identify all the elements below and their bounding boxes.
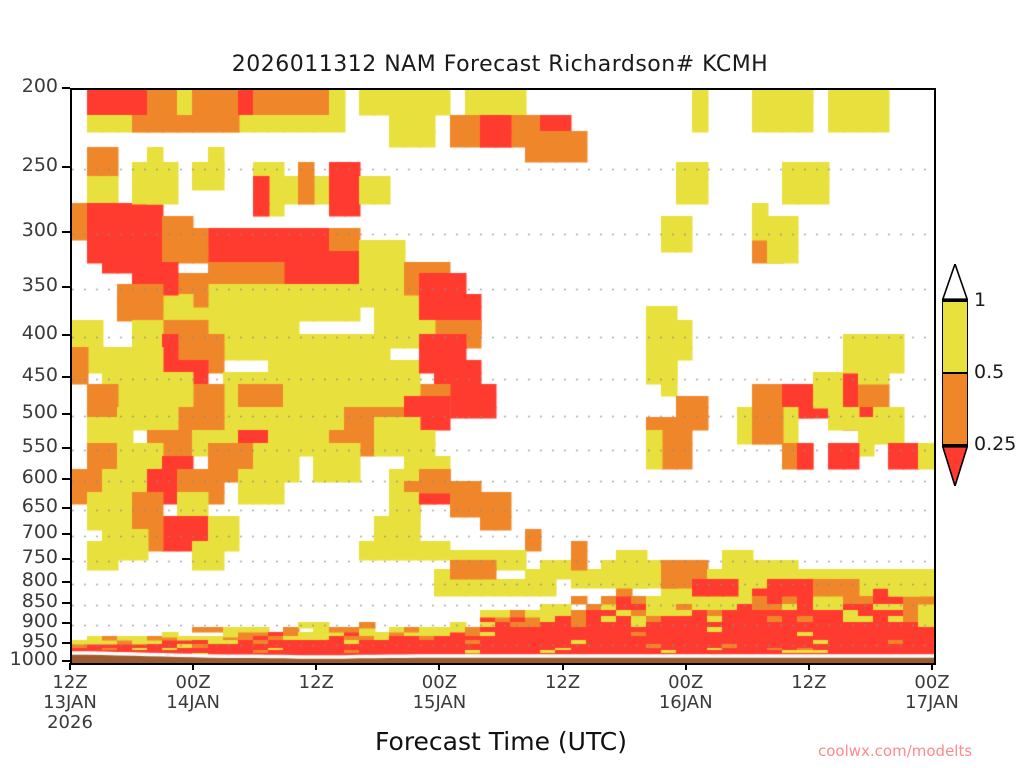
y-tick-label: 350 [22,274,58,296]
x-tick-line1: 12Z [545,672,580,693]
colorbar-label-1: 1 [974,289,986,311]
y-tick-mark [62,602,70,604]
y-tick-mark [62,622,70,624]
y-tick-mark [62,166,70,168]
y-tick-mark [62,558,70,560]
y-tick-mark [62,334,70,336]
y-tick-label: 400 [22,322,58,344]
y-tick-label: 200 [22,75,58,97]
colorbar-divider-bottom [942,444,968,446]
x-tick-mark [562,663,564,670]
x-tick-label: 12Z13JAN2026 [10,673,130,733]
colorbar-label-0.25: 0.25 [974,433,1016,455]
colorbar-arrow-up-outline-icon [942,264,968,300]
x-tick-line1: 12Z [52,672,87,693]
x-tick-mark [192,663,194,670]
y-tick-mark [62,231,70,233]
richardson-number-heatmap [72,90,934,663]
x-tick-line2: 13JAN [10,693,130,713]
y-tick-mark [62,533,70,535]
x-tick-line1: 12Z [791,672,826,693]
colorbar: 1 0.5 0.25 [942,300,968,446]
x-tick-mark [69,663,71,670]
y-tick-mark [62,642,70,644]
y-tick-label: 300 [22,219,58,241]
watermark-link[interactable]: coolwx.com/modelts [818,742,972,760]
colorbar-divider-top [942,300,968,302]
x-tick-mark [931,663,933,670]
x-tick-line2: 17JAN [872,693,992,713]
x-tick-label: 00Z14JAN [133,673,253,713]
x-tick-mark [808,663,810,670]
x-tick-mark [438,663,440,670]
y-tick-label: 600 [22,466,58,488]
y-tick-mark [62,581,70,583]
y-tick-mark [62,447,70,449]
x-tick-label: 00Z17JAN [872,673,992,713]
x-tick-line1: 00Z [668,672,703,693]
chart-figure: 2026011312 NAM Forecast Richardson# KCMH… [0,0,1024,768]
y-tick-label: 500 [22,401,58,423]
y-tick-label: 250 [22,154,58,176]
y-tick-mark [62,413,70,415]
colorbar-segment-orange [942,372,968,444]
y-tick-mark [62,660,70,662]
x-tick-line2: 14JAN [133,693,253,713]
x-tick-label: 00Z15JAN [379,673,499,713]
y-tick-label: 850 [22,590,58,612]
y-tick-mark [62,376,70,378]
plot-area [70,88,936,665]
y-tick-label: 550 [22,435,58,457]
y-tick-label: 700 [22,521,58,543]
colorbar-divider-mid [942,372,968,374]
colorbar-segment-yellow [942,300,968,372]
y-tick-label: 1000 [10,648,58,670]
x-tick-line1: 00Z [422,672,457,693]
x-tick-mark [315,663,317,670]
colorbar-arrow-down-outline-icon [942,446,968,486]
y-tick-label: 800 [22,569,58,591]
x-tick-label: 12Z [256,673,376,693]
colorbar-label-0.5: 0.5 [974,361,1004,383]
x-tick-line2: 15JAN [379,693,499,713]
y-tick-label: 450 [22,364,58,386]
x-tick-mark [685,663,687,670]
y-tick-label: 750 [22,546,58,568]
y-tick-mark [62,286,70,288]
x-tick-label: 12Z [749,673,869,693]
x-tick-line2: 16JAN [626,693,746,713]
x-axis-title: Forecast Time (UTC) [70,727,932,756]
x-tick-line1: 00Z [914,672,949,693]
x-tick-line1: 12Z [299,672,334,693]
x-tick-line1: 00Z [176,672,211,693]
y-tick-label: 650 [22,495,58,517]
y-tick-mark [62,478,70,480]
y-tick-mark [62,87,70,89]
x-tick-label: 00Z16JAN [626,673,746,713]
chart-title: 2026011312 NAM Forecast Richardson# KCMH [0,52,1000,77]
y-tick-mark [62,507,70,509]
x-tick-label: 12Z [503,673,623,693]
